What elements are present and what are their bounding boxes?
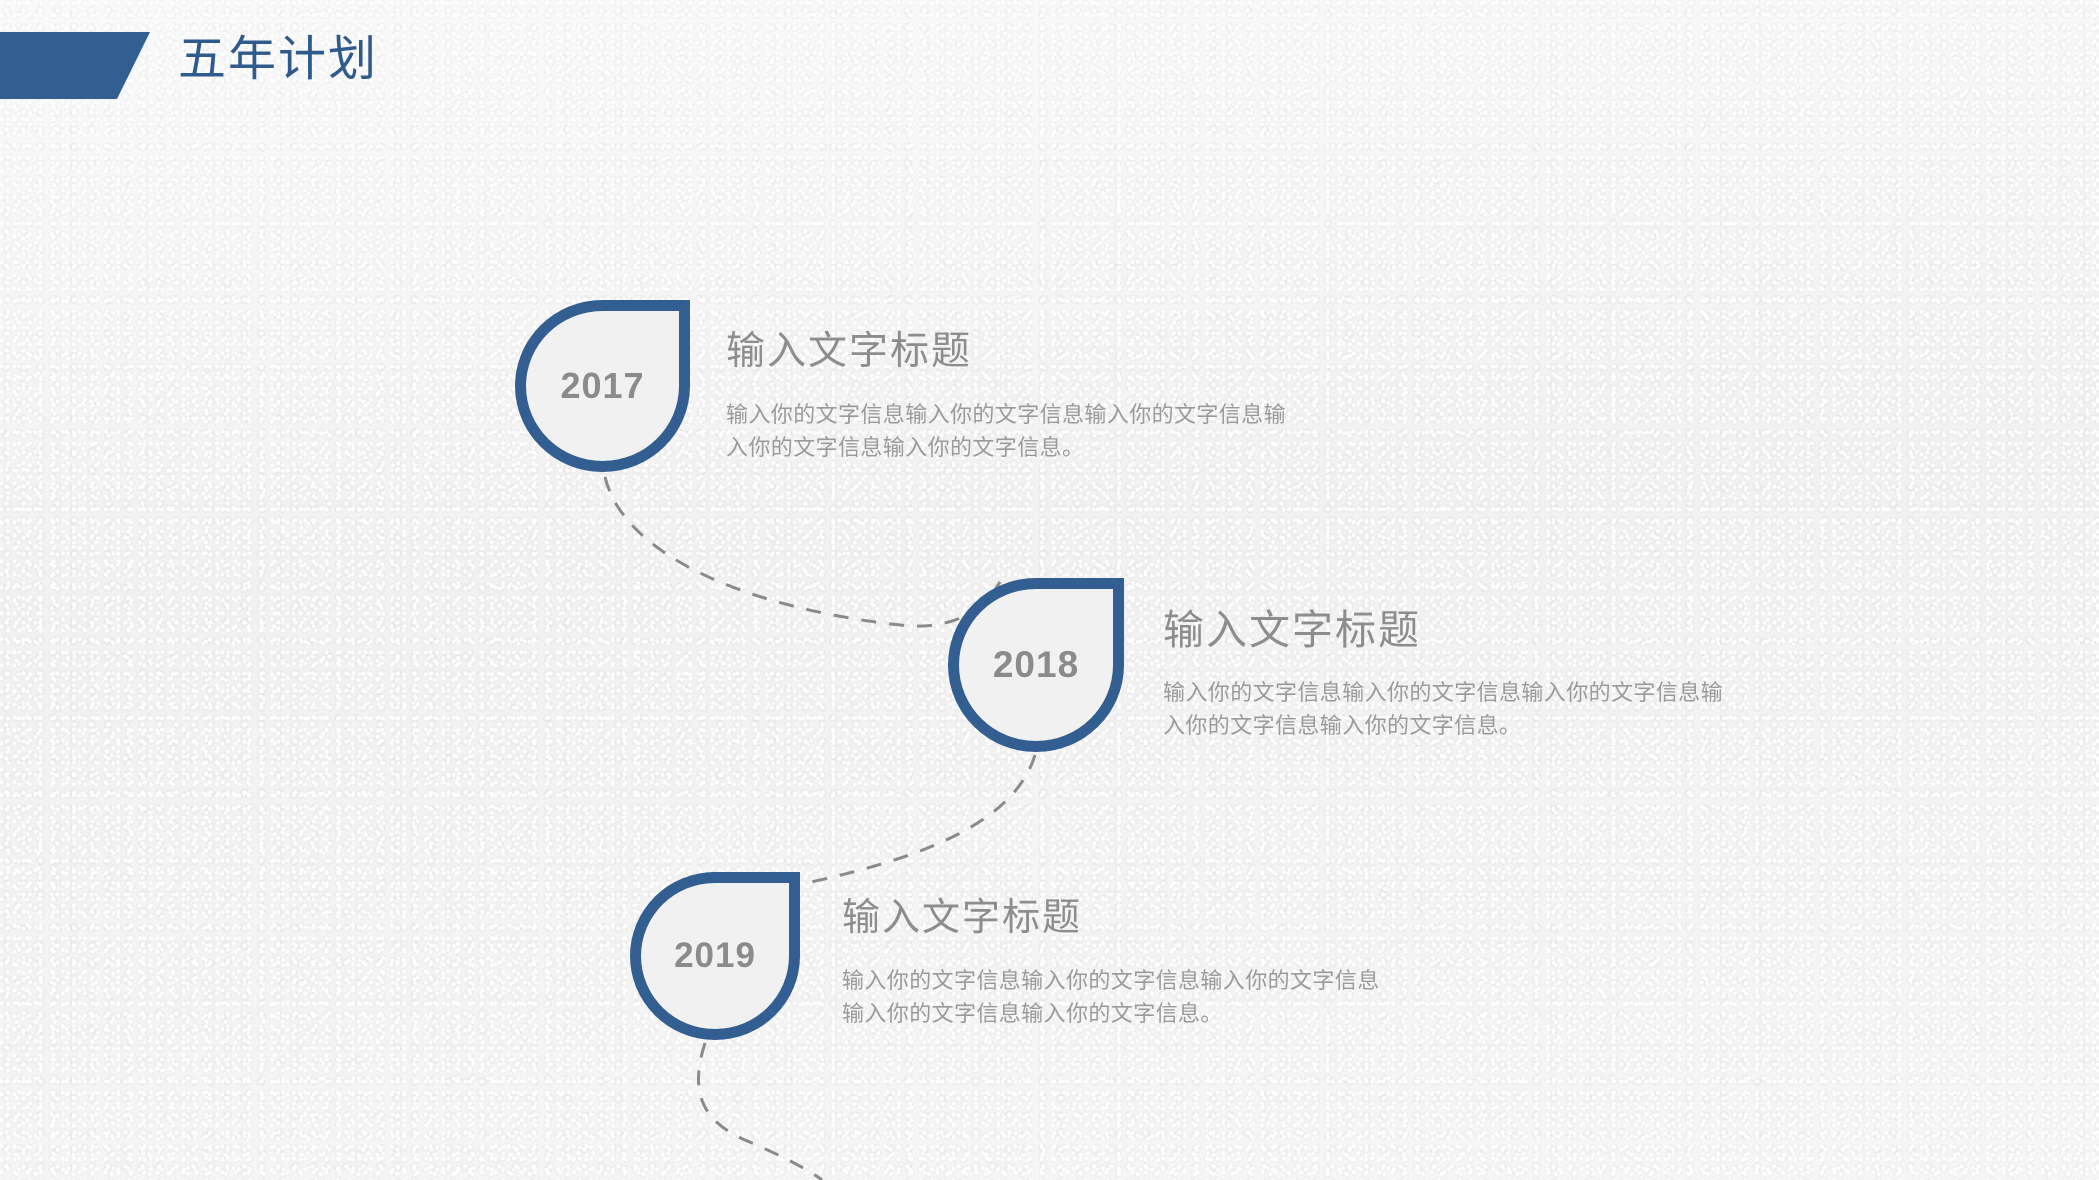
droplet-year-label: 2017 — [560, 365, 644, 407]
slide-header: 五年计划 — [0, 0, 2099, 120]
droplet-marker-2018[interactable]: 2018 — [948, 578, 1124, 752]
droplet-year-label: 2019 — [674, 936, 756, 976]
timeline-node-text-2017: 输入文字标题 输入你的文字信息输入你的文字信息输入你的文字信息输入你的文字信息输… — [726, 328, 1306, 464]
node-title: 输入文字标题 — [1163, 606, 1763, 654]
node-title: 输入文字标题 — [842, 894, 1402, 942]
node-body: 输入你的文字信息输入你的文字信息输入你的文字信息输入你的文字信息输入你的文字信息… — [726, 398, 1286, 464]
node-body: 输入你的文字信息输入你的文字信息输入你的文字信息输入你的文字信息输入你的文字信息… — [1163, 676, 1743, 742]
timeline-node-text-2019: 输入文字标题 输入你的文字信息输入你的文字信息输入你的文字信息输入你的文字信息输… — [842, 894, 1402, 1030]
droplet-marker-2017[interactable]: 2017 — [515, 300, 690, 472]
timeline-node-text-2018: 输入文字标题 输入你的文字信息输入你的文字信息输入你的文字信息输入你的文字信息输… — [1163, 606, 1763, 742]
node-title: 输入文字标题 — [726, 328, 1306, 376]
droplet-year-label: 2018 — [993, 644, 1079, 686]
droplet-marker-2019[interactable]: 2019 — [630, 872, 800, 1040]
page-title: 五年计划 — [178, 26, 378, 94]
node-body: 输入你的文字信息输入你的文字信息输入你的文字信息输入你的文字信息输入你的文字信息… — [842, 964, 1387, 1030]
header-accent-shape — [0, 32, 150, 99]
